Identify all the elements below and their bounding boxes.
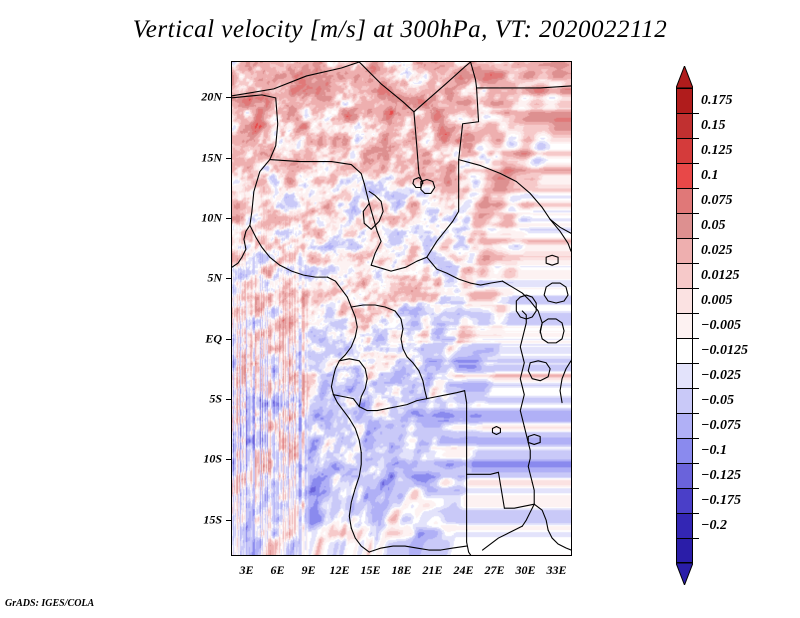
colorbar-tick-label: −0.025 <box>701 368 741 384</box>
colorbar-tick-mark <box>693 538 699 539</box>
colorbar-tick-mark <box>693 263 699 264</box>
colorbar-tick-label: −0.175 <box>701 493 741 509</box>
y-axis-tick-label: 5S <box>0 392 222 407</box>
colorbar-band <box>676 413 693 438</box>
colorbar-band <box>676 288 693 313</box>
colorbar-tick-label: 0.175 <box>701 93 733 109</box>
colorbar-band <box>676 513 693 538</box>
colorbar-tick-label: −0.125 <box>701 468 741 484</box>
colorbar-band <box>676 313 693 338</box>
colorbar-tick-mark <box>693 288 699 289</box>
colorbar-band <box>676 388 693 413</box>
x-axis-tick-label: 21E <box>422 563 442 578</box>
colorbar-tick-mark <box>693 413 699 414</box>
colorbar-band <box>676 488 693 513</box>
y-axis-tick-label: 5N <box>0 271 222 286</box>
colorbar-band <box>676 363 693 388</box>
colorbar-tick-mark <box>693 138 699 139</box>
colorbar-tick-label: 0.1 <box>701 168 719 184</box>
map-plot-area <box>231 61 572 556</box>
footer-credit: GrADS: IGES/COLA <box>5 598 94 609</box>
y-axis-tick-label: 20N <box>0 90 222 105</box>
colorbar-tick-mark <box>693 188 699 189</box>
x-axis-tick-label: 18E <box>391 563 411 578</box>
x-axis-tick-label: 3E <box>239 563 253 578</box>
y-axis-tick-label: 15S <box>0 512 222 527</box>
colorbar-band <box>676 238 693 263</box>
x-axis-tick-label: 33E <box>546 563 566 578</box>
colorbar-tick-label: 0.125 <box>701 143 733 159</box>
colorbar-bottom-arrow <box>676 563 693 585</box>
colorbar-tick-mark <box>693 113 699 114</box>
colorbar-tick-label: −0.2 <box>701 518 727 534</box>
colorbar-tick-label: 0.005 <box>701 293 733 309</box>
colorbar-tick-mark <box>693 388 699 389</box>
colorbar-band <box>676 463 693 488</box>
x-axis-tick-label: 12E <box>329 563 349 578</box>
colorbar-tick-label: −0.1 <box>701 443 727 459</box>
country-borders-overlay <box>232 62 571 555</box>
colorbar-tick-mark <box>693 363 699 364</box>
x-axis-tick-label: 9E <box>301 563 315 578</box>
colorbar-tick-mark <box>693 213 699 214</box>
colorbar-band <box>676 338 693 363</box>
colorbar-tick-mark <box>693 338 699 339</box>
colorbar-tick-label: 0.0125 <box>701 268 740 284</box>
colorbar-band <box>676 263 693 288</box>
colorbar-band <box>676 188 693 213</box>
x-axis-tick-label: 15E <box>360 563 380 578</box>
colorbar-band <box>676 88 693 113</box>
colorbar-tick-mark <box>693 238 699 239</box>
colorbar-band <box>676 113 693 138</box>
colorbar-tick-label: −0.075 <box>701 418 741 434</box>
y-axis-tick-label: 10S <box>0 452 222 467</box>
colorbar-band <box>676 163 693 188</box>
y-axis-tick-label: 15N <box>0 150 222 165</box>
colorbar-tick-mark <box>693 438 699 439</box>
x-axis-tick-label: 27E <box>484 563 504 578</box>
colorbar-tick-mark <box>693 163 699 164</box>
colorbar-tick-mark <box>693 463 699 464</box>
colorbar-band <box>676 213 693 238</box>
page-title: Vertical velocity [m/s] at 300hPa, VT: 2… <box>0 16 800 44</box>
colorbar-top-arrow <box>676 66 693 88</box>
colorbar-bands <box>676 88 693 563</box>
y-axis-tick-label: EQ <box>0 331 222 346</box>
colorbar-tick-mark <box>693 513 699 514</box>
colorbar-tick-label: 0.075 <box>701 193 733 209</box>
y-axis-tick-label: 10N <box>0 210 222 225</box>
colorbar-tick-label: −0.0125 <box>701 343 748 359</box>
x-axis-tick-label: 6E <box>270 563 284 578</box>
colorbar-tick-label: 0.15 <box>701 118 726 134</box>
x-axis-tick-label: 24E <box>453 563 473 578</box>
colorbar-band <box>676 438 693 463</box>
colorbar-tick-label: −0.05 <box>701 393 734 409</box>
colorbar-tick-mark <box>693 313 699 314</box>
colorbar-tick-label: −0.005 <box>701 318 741 334</box>
x-axis-tick-label: 30E <box>515 563 535 578</box>
colorbar-tick-mark <box>693 488 699 489</box>
colorbar: 0.1750.150.1250.10.0750.050.0250.01250.0… <box>660 60 800 560</box>
colorbar-tick-label: 0.05 <box>701 218 726 234</box>
colorbar-band <box>676 538 693 563</box>
colorbar-tick-label: 0.025 <box>701 243 733 259</box>
colorbar-band <box>676 138 693 163</box>
